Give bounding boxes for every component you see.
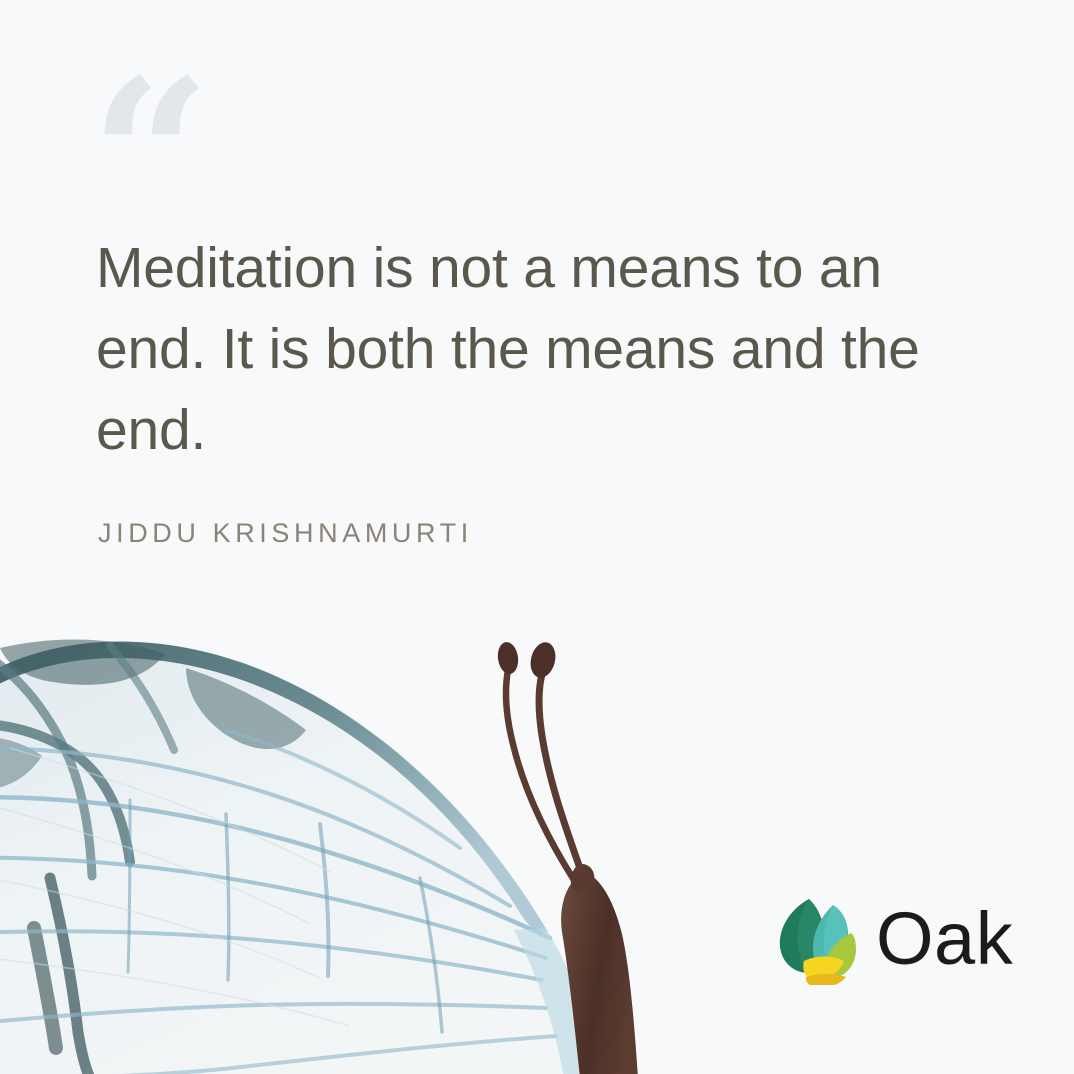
- brand-wordmark: Oak: [876, 902, 1013, 976]
- butterfly-illustration: [0, 628, 650, 1074]
- quote-card: “ Meditation is not a means to an end. I…: [0, 0, 1074, 1074]
- quote-block: Meditation is not a means to an end. It …: [96, 228, 996, 471]
- quote-attribution: JIDDU KRISHNAMURTI: [98, 518, 473, 549]
- quote-text: Meditation is not a means to an end. It …: [96, 228, 996, 471]
- oak-leaf-icon: [778, 893, 856, 985]
- brand-logo: Oak: [778, 893, 1013, 985]
